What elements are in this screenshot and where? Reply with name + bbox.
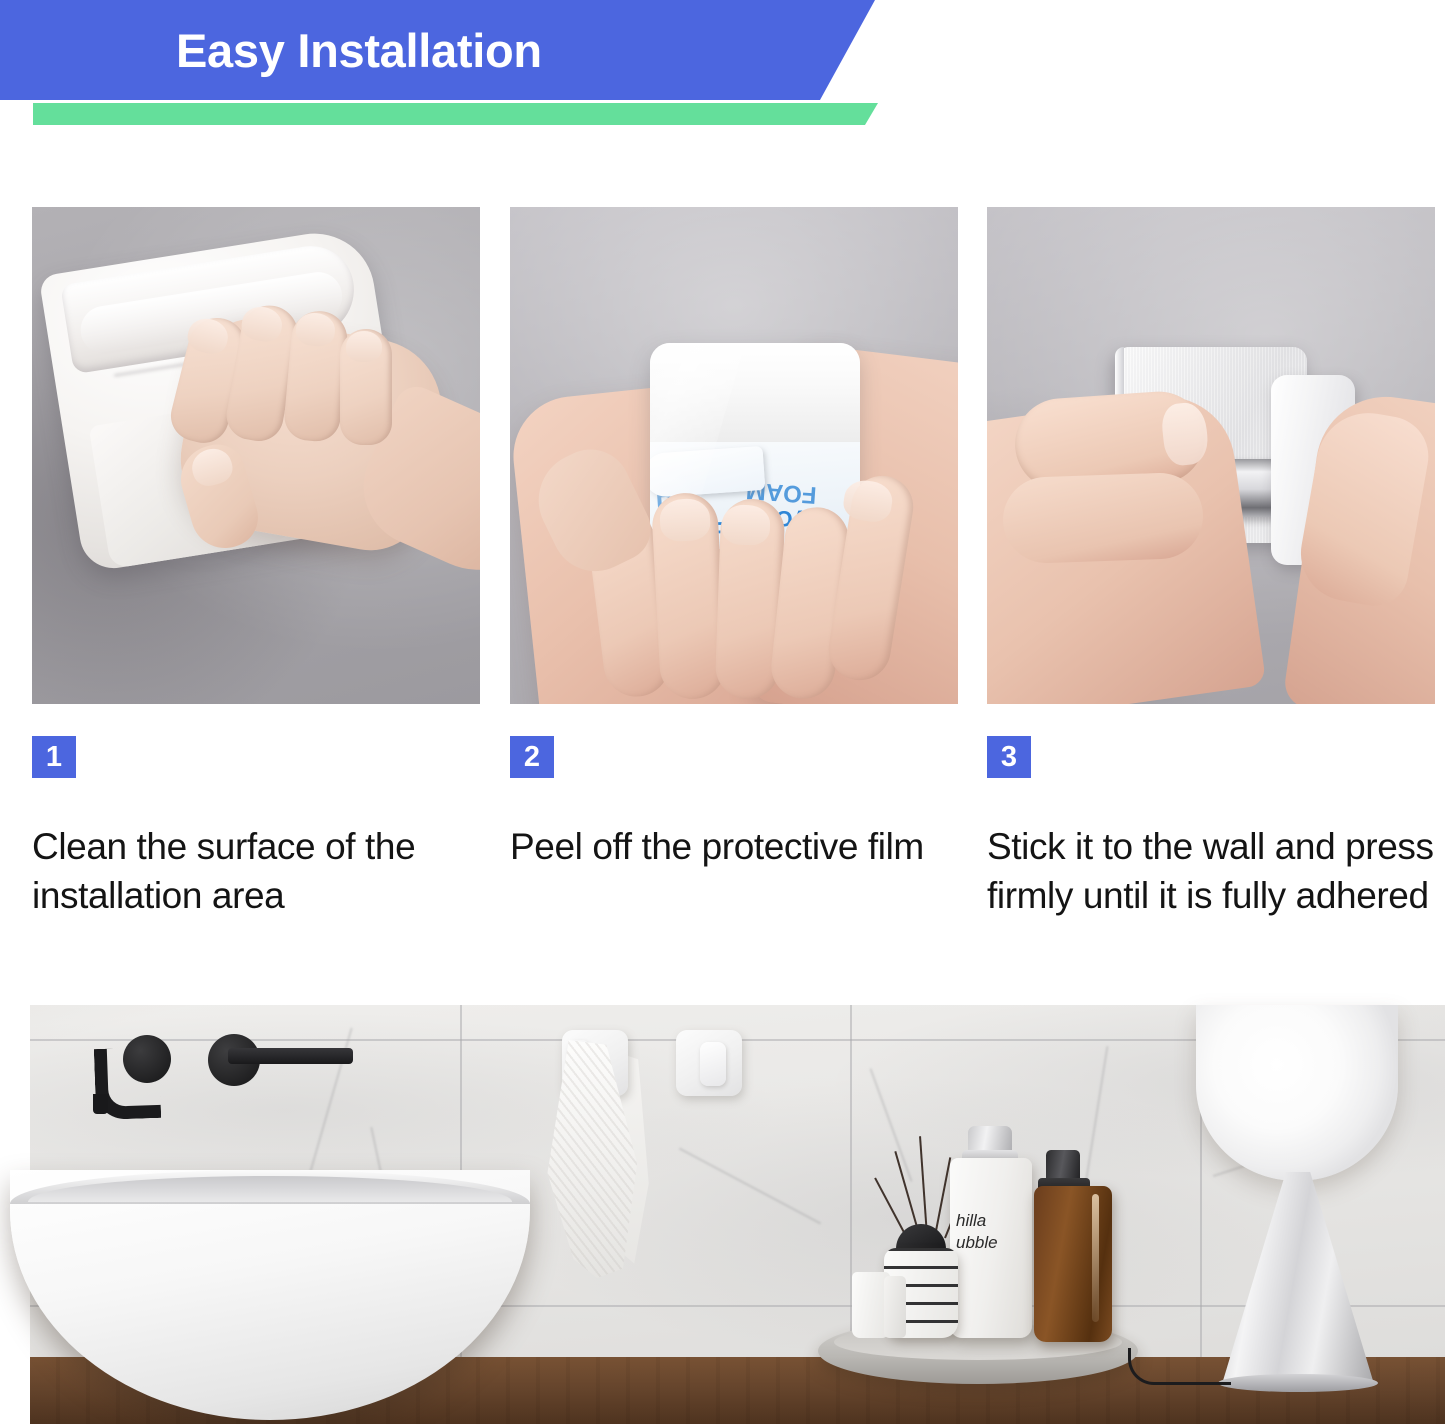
step-1-image bbox=[32, 207, 480, 704]
faucet-base bbox=[123, 1035, 171, 1083]
step-number-badge-1: 1 bbox=[32, 736, 76, 778]
step-number-badge-3: 3 bbox=[987, 736, 1031, 778]
step-2-block: 2 Peel off the protective film bbox=[510, 736, 960, 871]
lamp-foot bbox=[1218, 1374, 1378, 1392]
fingernail bbox=[721, 504, 770, 546]
amber-bottle bbox=[1034, 1186, 1112, 1342]
header-banner: Easy Installation bbox=[0, 0, 1445, 135]
step-caption-1: Clean the surface of the installation ar… bbox=[32, 822, 482, 920]
cosmetic-tube-small bbox=[884, 1276, 906, 1338]
page-title: Easy Installation bbox=[176, 22, 542, 80]
bottle-label-text: hilla ubble bbox=[956, 1210, 1028, 1254]
white-bottle: hilla ubble bbox=[950, 1158, 1032, 1338]
finger bbox=[1002, 472, 1205, 565]
step-1-block: 1 Clean the surface of the installation … bbox=[32, 736, 482, 920]
banner-green-accent-bar bbox=[33, 103, 878, 125]
hand bbox=[152, 299, 480, 639]
step-caption-2: Peel off the protective film bbox=[510, 822, 960, 871]
step-number-badge-2: 2 bbox=[510, 736, 554, 778]
wall-hook-empty bbox=[676, 1030, 742, 1096]
step-caption-3: Stick it to the wall and press firmly un… bbox=[987, 822, 1439, 920]
step-2-image: 3M PE FOAM 3M PE FOAM bbox=[510, 207, 958, 704]
fingernail bbox=[659, 498, 711, 543]
step-images-row: 3M PE FOAM 3M PE FOAM bbox=[0, 207, 1445, 704]
faucet-handle-lever bbox=[228, 1048, 353, 1064]
power-cord bbox=[1128, 1348, 1231, 1385]
step-3-image bbox=[987, 207, 1435, 704]
faucet-spout-tip bbox=[93, 1094, 108, 1114]
step-3-block: 3 Stick it to the wall and press firmly … bbox=[987, 736, 1439, 920]
